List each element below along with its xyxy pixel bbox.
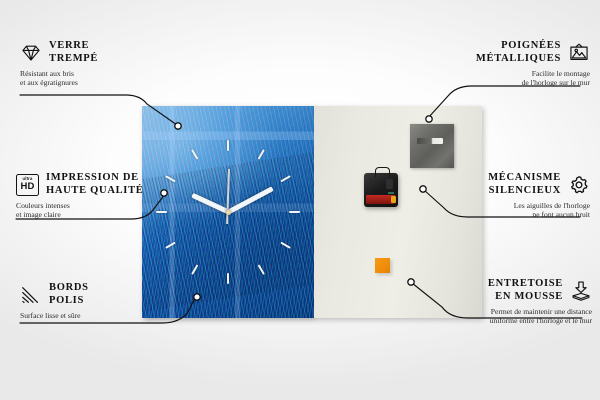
callout-head: ENTRETOISE EN MOUSSE bbox=[382, 278, 592, 303]
clock-tick bbox=[258, 264, 265, 275]
callout-foam-spacer[interactable]: ENTRETOISE EN MOUSSE Permet de maintenir… bbox=[382, 278, 592, 326]
clock-tick bbox=[280, 175, 291, 182]
clock-minute-hand bbox=[227, 186, 273, 214]
clock-tick bbox=[227, 140, 229, 151]
callout-title: POIGNÉES MÉTALLIQUES bbox=[476, 40, 561, 65]
clock-tick bbox=[258, 149, 265, 160]
callout-title: MÉCANISME SILENCIEUX bbox=[488, 172, 561, 197]
clock-tick bbox=[156, 211, 167, 213]
callout-silent-mechanism[interactable]: MÉCANISME SILENCIEUX Les aiguilles de l'… bbox=[394, 172, 590, 220]
mechanism-detail bbox=[386, 179, 393, 189]
metal-hanger-plate bbox=[410, 124, 454, 168]
callout-head: MÉCANISME SILENCIEUX bbox=[394, 172, 590, 197]
infographic-canvas: VERRE TREMPÉ Résistant aux bris et aux é… bbox=[0, 0, 600, 400]
diamond-icon bbox=[20, 42, 42, 64]
clock-mechanism bbox=[364, 173, 398, 207]
clock-tick bbox=[165, 242, 176, 249]
picture-frame-hanging-icon bbox=[568, 42, 590, 64]
clock-tick bbox=[191, 149, 198, 160]
clock-dial bbox=[142, 106, 314, 318]
callout-desc: Résistant aux bris et aux égratignures bbox=[20, 69, 190, 88]
gear-icon bbox=[568, 174, 590, 196]
callout-tempered-glass[interactable]: VERRE TREMPÉ Résistant aux bris et aux é… bbox=[20, 40, 190, 88]
foam-spacer bbox=[375, 258, 390, 273]
clock-tick bbox=[280, 242, 291, 249]
clock-tick bbox=[227, 273, 229, 284]
callout-title: VERRE TREMPÉ bbox=[49, 40, 98, 65]
hanger-slot bbox=[417, 138, 443, 144]
clock-tick bbox=[165, 175, 176, 182]
clock-face-panel bbox=[142, 106, 314, 318]
arrow-down-onto-pad-icon bbox=[570, 280, 592, 302]
ultra-hd-icon: ultra HD bbox=[16, 174, 39, 196]
clock-tick bbox=[191, 264, 198, 275]
callout-desc: Permet de maintenir une distance uniform… bbox=[382, 307, 592, 326]
callout-head: POIGNÉES MÉTALLIQUES bbox=[404, 40, 590, 65]
clock-second-hand bbox=[227, 169, 230, 224]
clock-center-cap bbox=[226, 210, 231, 215]
clock-tick bbox=[289, 211, 300, 213]
battery bbox=[366, 195, 395, 204]
callout-desc: Facilite le montage de l'horloge sur le … bbox=[404, 69, 590, 88]
ultra-hd-main-text: HD bbox=[20, 182, 34, 192]
callout-desc: Les aiguilles de l'horloge ne font aucun… bbox=[394, 201, 590, 220]
mechanism-hanging-loop bbox=[375, 167, 390, 177]
callout-head: VERRE TREMPÉ bbox=[20, 40, 190, 65]
callout-title: ENTRETOISE EN MOUSSE bbox=[488, 278, 563, 303]
callout-title: BORDS POLIS bbox=[49, 282, 89, 307]
clock-hour-hand bbox=[191, 193, 229, 214]
callout-metal-handles[interactable]: POIGNÉES MÉTALLIQUES Facilite le montage… bbox=[404, 40, 590, 88]
callout-title: IMPRESSION DE HAUTE QUALITÉ bbox=[46, 172, 144, 197]
diagonal-lines-icon bbox=[20, 284, 42, 306]
